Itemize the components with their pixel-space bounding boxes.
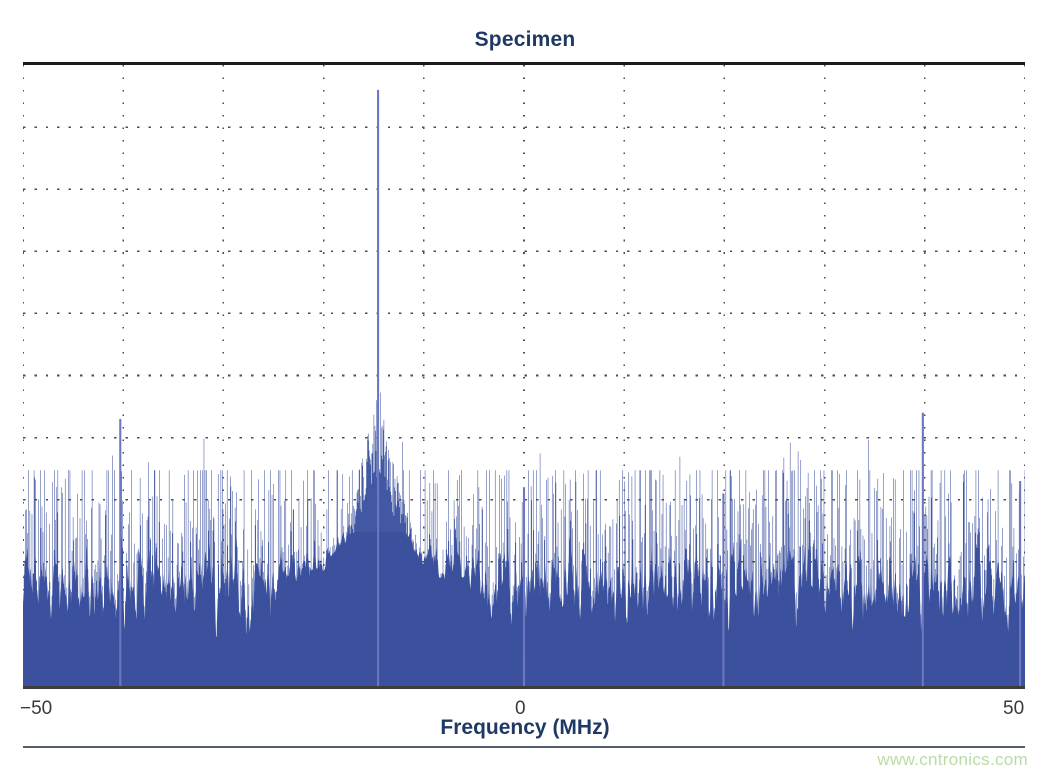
page-title: Specimen	[0, 28, 1050, 52]
x-axis-title: Frequency (MHz)	[0, 716, 1050, 740]
spectrum-trace	[23, 65, 1025, 686]
footer-divider	[23, 746, 1025, 748]
spectrum-figure: Specimen −50 0 50 Frequency (MHz) www.cn…	[0, 0, 1050, 774]
watermark: www.cntronics.com	[877, 750, 1028, 770]
plot-area	[23, 62, 1025, 689]
